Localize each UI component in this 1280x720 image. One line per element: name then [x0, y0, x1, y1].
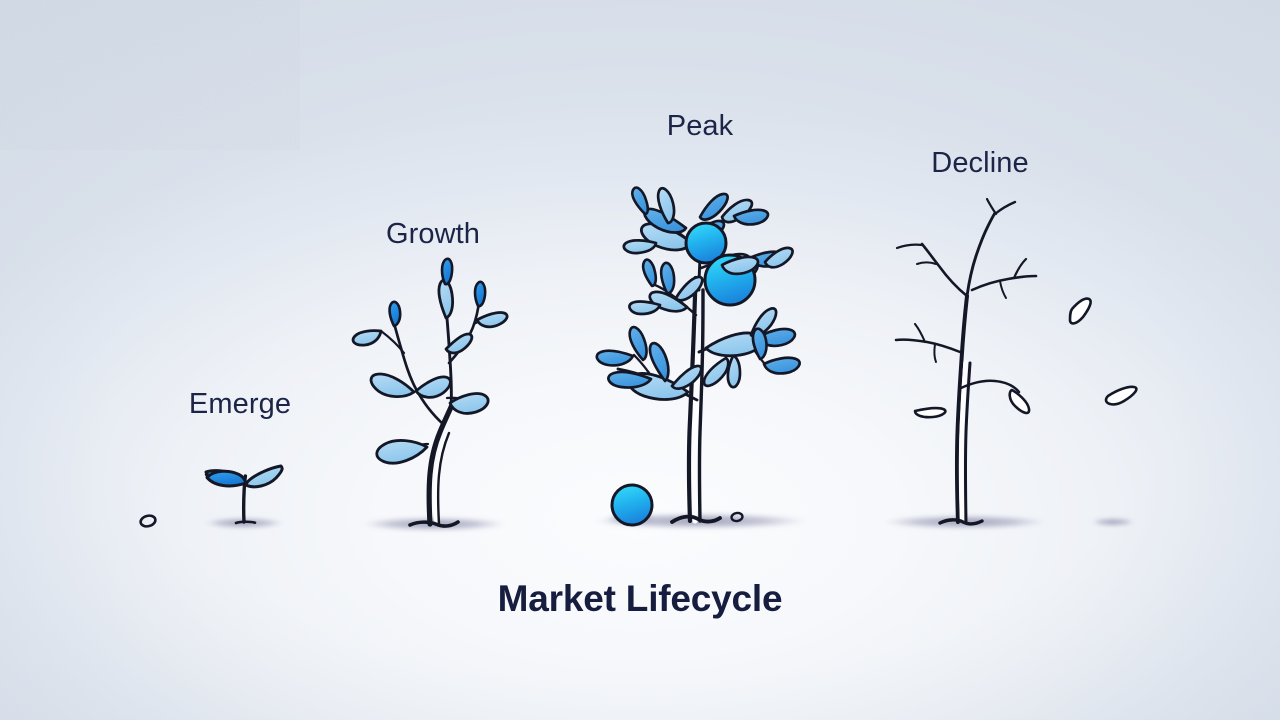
stage-decline-art — [896, 199, 1136, 524]
leaf — [728, 356, 740, 387]
decline-branch-right-upper-tip — [1014, 259, 1026, 278]
decline-branch-top-left — [987, 199, 996, 214]
decline-branch-left-mid — [896, 340, 960, 352]
ground-shadows — [204, 513, 1135, 531]
leaf — [377, 440, 427, 463]
leaf — [477, 312, 507, 326]
leaf — [632, 188, 648, 214]
leaf — [416, 377, 450, 397]
leaf — [597, 351, 633, 366]
decline-branch-left-upper — [922, 244, 967, 296]
leaf — [643, 260, 656, 286]
falling-leaf — [1010, 390, 1029, 413]
leaf-bud — [475, 282, 485, 306]
fruit-fallen — [612, 485, 652, 525]
stage-label-growth: Growth — [386, 218, 480, 251]
leaf — [371, 374, 414, 397]
peak-trunk-right — [699, 290, 703, 521]
decline-branch-left-upper-tip2 — [917, 263, 936, 265]
peak-leaf-cluster-right-mid — [704, 308, 800, 387]
leaf — [753, 329, 767, 359]
leaf — [704, 358, 728, 386]
sprout-leaf-left-body — [207, 471, 246, 486]
leaf — [629, 302, 660, 314]
growth-trunk-outline-right — [438, 433, 449, 524]
decline-falling-leaves — [915, 299, 1136, 418]
leaf — [624, 240, 656, 253]
leaf — [353, 331, 381, 345]
sprout-leaf-right — [246, 466, 282, 487]
stage-label-decline: Decline — [931, 147, 1028, 180]
falling-leaf — [1070, 299, 1091, 324]
leaf-bud — [442, 259, 452, 284]
leaf — [764, 358, 800, 374]
peak-leaf-cluster-left-lower — [597, 327, 701, 399]
leaf-bud — [390, 302, 401, 326]
decline-branch-left-upper-tip — [897, 245, 922, 248]
stage-growth-art — [353, 259, 507, 526]
growth-leaves — [353, 259, 507, 463]
stage-peak-art — [597, 188, 800, 525]
stage-label-peak: Peak — [667, 110, 734, 143]
falling-leaf — [915, 408, 945, 417]
decline-branch-left-mid-tip2 — [934, 344, 936, 362]
illustration-canvas: Emerge Growth Peak Decline Market Lifecy… — [0, 0, 1280, 720]
leaf — [450, 394, 488, 414]
stage-label-emerge: Emerge — [189, 388, 291, 421]
falling-leaf — [1106, 387, 1136, 405]
leaf — [676, 277, 702, 300]
decline-branch-top-right — [995, 202, 1015, 214]
shadow-fallen-leaf-right — [1091, 518, 1135, 526]
page-title: Market Lifecycle — [498, 578, 783, 620]
peak-leaf-cluster-left-mid — [629, 260, 702, 314]
decline-branch-right-upper — [972, 276, 1036, 290]
decline-branch-right-upper-tip2 — [1000, 281, 1006, 298]
growth-branch-left — [395, 325, 444, 424]
leaf — [439, 280, 453, 318]
seed-husk-icon — [139, 514, 156, 528]
soil-line-emerge — [236, 522, 255, 523]
